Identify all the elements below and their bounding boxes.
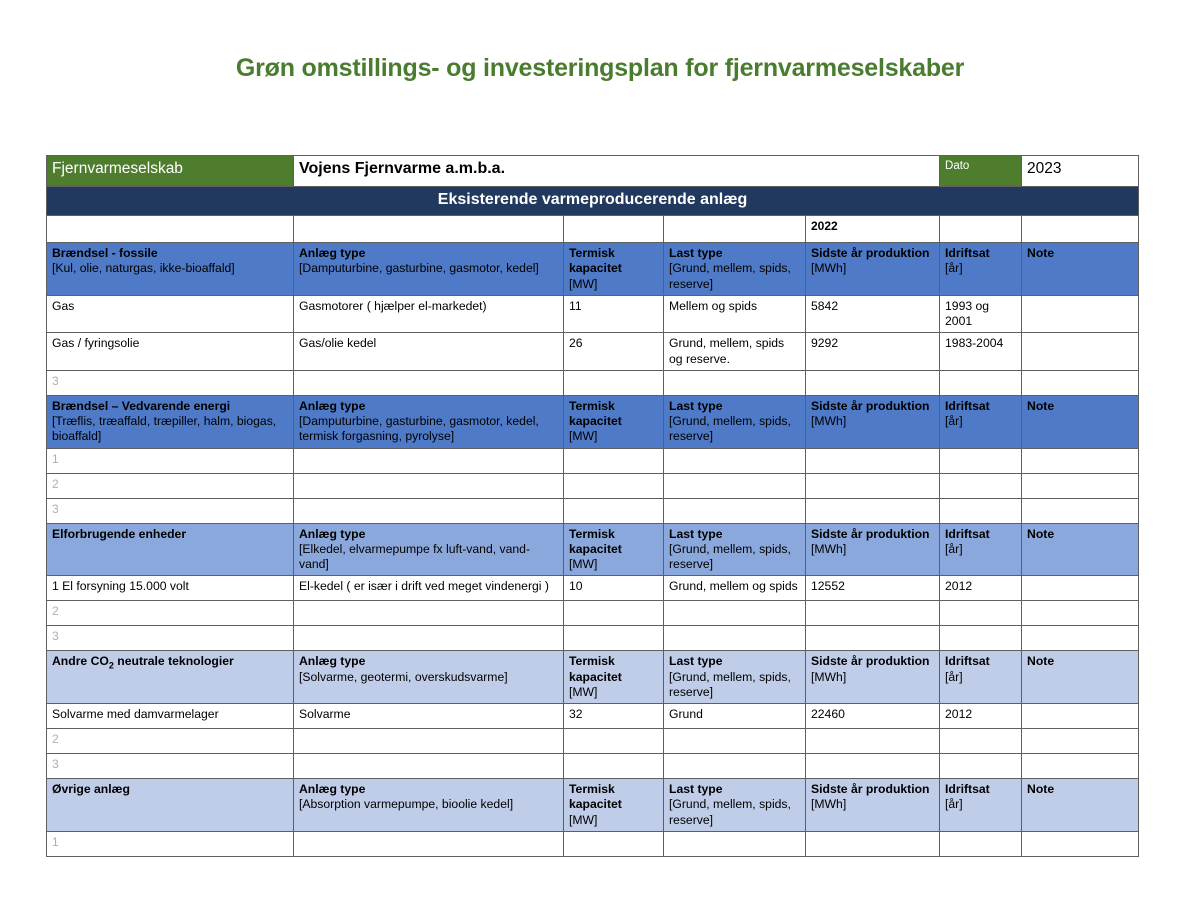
section-header-vedvarende: Brændsel – Vedvarende energi[Træflis, tr…	[47, 395, 1139, 448]
section-title-cell-elforbrugende: Elforbrugende enheder	[47, 523, 294, 576]
col-header-sub: [Solvarme, geotermi, overskudsvarme]	[299, 670, 558, 685]
cell-anlaeg-type[interactable]: Gas/olie kedel	[294, 333, 564, 371]
cell-note[interactable]	[1022, 754, 1139, 779]
cell-termisk-kapacitet[interactable]	[564, 448, 664, 473]
cell-idriftsat[interactable]	[940, 626, 1022, 651]
col-header-unit: [MWh]	[811, 542, 846, 556]
col-header-sub: [Grund, mellem, spids, reserve]	[669, 797, 800, 828]
col-header-label: Sidste år produktion [MWh]	[811, 399, 934, 430]
cell-idriftsat[interactable]	[940, 754, 1022, 779]
table-row[interactable]: 1	[47, 831, 1139, 856]
section-title-cell-co2neutrale: Andre CO2 neutrale teknologier	[47, 651, 294, 704]
row-number: 3	[52, 374, 59, 388]
section-title: Øvrige anlæg	[52, 782, 288, 797]
cell-fuel-name[interactable]: 3	[47, 754, 294, 779]
col-last-type-elforbrugende: Last type[Grund, mellem, spids, reserve]	[664, 523, 806, 576]
col-last-type-fossile: Last type[Grund, mellem, spids, reserve]	[664, 243, 806, 296]
cell-fuel-name[interactable]: 2	[47, 601, 294, 626]
company-name-value[interactable]: Vojens Fjernvarme a.m.b.a.	[294, 156, 940, 187]
cell-anlaeg-type[interactable]: El-kedel ( er især i drift ved meget vin…	[294, 576, 564, 601]
cell-note[interactable]	[1022, 473, 1139, 498]
cell-note[interactable]	[1022, 831, 1139, 856]
col-termisk-kapacitet-vedvarende: Termisk kapacitet[MW]	[564, 395, 664, 448]
cell-fuel: 1 El forsyning 15.000 volt	[52, 579, 189, 593]
year-marker: 2022	[806, 216, 940, 243]
cell-last-type[interactable]	[664, 831, 806, 856]
cell-idriftsat[interactable]	[940, 370, 1022, 395]
cell-sidste-aar-produktion[interactable]	[806, 831, 940, 856]
section-title: Andre CO2 neutrale teknologier	[52, 654, 288, 672]
col-note-vedvarende: Note	[1022, 395, 1139, 448]
cell-anlaeg-type[interactable]	[294, 601, 564, 626]
col-header-unit: [MWh]	[811, 670, 846, 684]
col-header-label: Last type	[669, 782, 800, 797]
col-idriftsat-co2neutrale: Idriftsat[år]	[940, 651, 1022, 704]
cell-note[interactable]	[1022, 448, 1139, 473]
cell-sidste-aar-produktion[interactable]: 12552	[806, 576, 940, 601]
col-note-fossile: Note	[1022, 243, 1139, 296]
cell-termisk-kapacitet[interactable]: 11	[564, 295, 664, 333]
spacer-cell-4	[664, 216, 806, 243]
col-header-label: Termisk kapacitet	[569, 399, 658, 430]
table-row[interactable]: 3	[47, 498, 1139, 523]
cell-last-type[interactable]	[664, 370, 806, 395]
cell-sidste-aar-produktion[interactable]	[806, 626, 940, 651]
col-idriftsat-fossile: Idriftsat[år]	[940, 243, 1022, 296]
col-last-type-ovrige: Last type[Grund, mellem, spids, reserve]	[664, 779, 806, 832]
cell-fuel-name[interactable]: 3	[47, 498, 294, 523]
col-header-unit: [år]	[945, 261, 1016, 276]
section-header-elforbrugende: Elforbrugende enhederAnlæg type[Elkedel,…	[47, 523, 1139, 576]
col-header-label: Sidste år produktion [MWh]	[811, 246, 934, 277]
cell-anlaeg-type[interactable]	[294, 729, 564, 754]
cell-fuel-name[interactable]: 1	[47, 831, 294, 856]
section-title: Brændsel - fossile	[52, 246, 288, 261]
row-number: 2	[52, 732, 59, 746]
col-header-unit: [MW]	[569, 277, 658, 292]
col-header-label: Idriftsat	[945, 782, 1016, 797]
row-number: 1	[52, 835, 59, 849]
cell-last-type[interactable]: Grund	[664, 704, 806, 729]
identity-row: Fjernvarmeselskab Vojens Fjernvarme a.m.…	[47, 156, 1139, 187]
cell-fuel-name[interactable]: 2	[47, 729, 294, 754]
col-header-label: Note	[1027, 654, 1133, 669]
cell-termisk-kapacitet[interactable]: 26	[564, 333, 664, 371]
cell-termisk-kapacitet[interactable]: 32	[564, 704, 664, 729]
col-header-label: Termisk kapacitet	[569, 782, 658, 813]
cell-anlaeg-type[interactable]	[294, 754, 564, 779]
cell-sidste-aar-produktion[interactable]	[806, 729, 940, 754]
col-note-co2neutrale: Note	[1022, 651, 1139, 704]
col-idriftsat-vedvarende: Idriftsat[år]	[940, 395, 1022, 448]
col-idriftsat-ovrige: Idriftsat[år]	[940, 779, 1022, 832]
spacer-cell-2	[294, 216, 564, 243]
section-title-cell-ovrige: Øvrige anlæg	[47, 779, 294, 832]
row-number: 3	[52, 629, 59, 643]
col-header-label: Last type	[669, 399, 800, 414]
table-body: Fjernvarmeselskab Vojens Fjernvarme a.m.…	[47, 156, 1139, 857]
cell-termisk-kapacitet[interactable]	[564, 729, 664, 754]
cell-idriftsat[interactable]	[940, 448, 1022, 473]
banner-row: Eksisterende varmeproducerende anlæg	[47, 187, 1139, 216]
table-row[interactable]: 2	[47, 601, 1139, 626]
row-number: 1	[52, 452, 59, 466]
cell-last-type[interactable]: Grund, mellem og spids	[664, 576, 806, 601]
cell-idriftsat[interactable]: 2012	[940, 704, 1022, 729]
cell-idriftsat[interactable]	[940, 831, 1022, 856]
date-label: Dato	[940, 156, 1022, 187]
spacer-cell-6	[940, 216, 1022, 243]
cell-sidste-aar-produktion[interactable]	[806, 754, 940, 779]
year-marker-row: 2022	[47, 216, 1139, 243]
col-anlaeg-type-fossile: Anlæg type[Damputurbine, gasturbine, gas…	[294, 243, 564, 296]
col-termisk-kapacitet-fossile: Termisk kapacitet[MW]	[564, 243, 664, 296]
spacer-cell-3	[564, 216, 664, 243]
col-header-sub: [Elkedel, elvarmepumpe fx luft-vand, van…	[299, 542, 558, 573]
col-header-unit: [MW]	[569, 557, 658, 572]
table-row[interactable]: Solvarme med damvarmelagerSolvarme32Grun…	[47, 704, 1139, 729]
col-termisk-kapacitet-co2neutrale: Termisk kapacitet[MW]	[564, 651, 664, 704]
section-subtitle: [Træflis, træaffald, træpiller, halm, bi…	[52, 414, 288, 445]
col-header-label: Note	[1027, 246, 1133, 261]
col-last-type-co2neutrale: Last type[Grund, mellem, spids, reserve]	[664, 651, 806, 704]
col-header-label: Note	[1027, 782, 1133, 797]
cell-termisk-kapacitet[interactable]: 10	[564, 576, 664, 601]
cell-anlaeg-type[interactable]: Solvarme	[294, 704, 564, 729]
cell-note[interactable]	[1022, 626, 1139, 651]
cell-last-type[interactable]	[664, 473, 806, 498]
col-anlaeg-type-co2neutrale: Anlæg type[Solvarme, geotermi, overskuds…	[294, 651, 564, 704]
col-header-label: Termisk kapacitet	[569, 246, 658, 277]
col-header-sub: [Grund, mellem, spids, reserve]	[669, 670, 800, 701]
cell-last-type[interactable]: Grund, mellem, spids og reserve.	[664, 333, 806, 371]
col-header-unit: [MWh]	[811, 414, 846, 428]
cell-sidste-aar-produktion[interactable]: 22460	[806, 704, 940, 729]
cell-note[interactable]	[1022, 601, 1139, 626]
col-note-elforbrugende: Note	[1022, 523, 1139, 576]
col-note-ovrige: Note	[1022, 779, 1139, 832]
cell-sidste-aar-produktion[interactable]	[806, 370, 940, 395]
col-header-label: Note	[1027, 527, 1133, 542]
cell-anlaeg-type[interactable]	[294, 448, 564, 473]
cell-note[interactable]	[1022, 729, 1139, 754]
col-header-label: Idriftsat	[945, 246, 1016, 261]
col-header-label: Last type	[669, 654, 800, 669]
col-header-label: Termisk kapacitet	[569, 654, 658, 685]
col-header-unit: [MW]	[569, 685, 658, 700]
spacer-cell-7	[1022, 216, 1139, 243]
col-header-unit: [år]	[945, 797, 1016, 812]
col-header-label: Anlæg type	[299, 399, 558, 414]
cell-sidste-aar-produktion[interactable]	[806, 601, 940, 626]
col-sidste-aar-elforbrugende: Sidste år produktion [MWh]	[806, 523, 940, 576]
section-title: Elforbrugende enheder	[52, 527, 288, 542]
cell-termisk-kapacitet[interactable]	[564, 754, 664, 779]
cell-last-type[interactable]	[664, 626, 806, 651]
cell-last-type[interactable]	[664, 754, 806, 779]
cell-last-type[interactable]: Mellem og spids	[664, 295, 806, 333]
cell-note[interactable]	[1022, 576, 1139, 601]
table-row[interactable]: GasGasmotorer ( hjælper el-markedet)11Me…	[47, 295, 1139, 333]
table-row[interactable]: 3	[47, 626, 1139, 651]
col-sidste-aar-co2neutrale: Sidste år produktion [MWh]	[806, 651, 940, 704]
col-header-label: Anlæg type	[299, 246, 558, 261]
cell-fuel-name[interactable]: 2	[47, 473, 294, 498]
cell-fuel-name[interactable]: Gas	[47, 295, 294, 333]
col-header-label: Anlæg type	[299, 782, 558, 797]
section-title-cell-vedvarende: Brændsel – Vedvarende energi[Træflis, tr…	[47, 395, 294, 448]
col-sidste-aar-fossile: Sidste år produktion [MWh]	[806, 243, 940, 296]
col-header-label: Last type	[669, 527, 800, 542]
cell-note[interactable]	[1022, 498, 1139, 523]
table-row[interactable]: Gas / fyringsolieGas/olie kedel26Grund, …	[47, 333, 1139, 371]
cell-idriftsat[interactable]	[940, 473, 1022, 498]
cell-idriftsat[interactable]: 1983-2004	[940, 333, 1022, 371]
col-header-unit: [MW]	[569, 813, 658, 828]
cell-anlaeg-type[interactable]	[294, 370, 564, 395]
cell-idriftsat[interactable]: 1993 og 2001	[940, 295, 1022, 333]
cell-sidste-aar-produktion[interactable]	[806, 448, 940, 473]
cell-idriftsat[interactable]	[940, 729, 1022, 754]
cell-anlaeg-type[interactable]	[294, 473, 564, 498]
col-header-unit: [MW]	[569, 429, 658, 444]
cell-termisk-kapacitet[interactable]	[564, 370, 664, 395]
table-row[interactable]: 2	[47, 729, 1139, 754]
col-sidste-aar-ovrige: Sidste år produktion [MWh]	[806, 779, 940, 832]
section-header-co2neutrale: Andre CO2 neutrale teknologierAnlæg type…	[47, 651, 1139, 704]
col-header-sub: [Grund, mellem, spids, reserve]	[669, 542, 800, 573]
cell-anlaeg-type[interactable]	[294, 498, 564, 523]
col-header-sub: [Grund, mellem, spids, reserve]	[669, 414, 800, 445]
cell-fuel-name[interactable]: Gas / fyringsolie	[47, 333, 294, 371]
col-header-label: Last type	[669, 246, 800, 261]
section-header-ovrige: Øvrige anlægAnlæg type[Absorption varmep…	[47, 779, 1139, 832]
cell-anlaeg-type[interactable]: Gasmotorer ( hjælper el-markedet)	[294, 295, 564, 333]
cell-anlaeg-type[interactable]	[294, 831, 564, 856]
section-title-cell-fossile: Brændsel - fossile[Kul, olie, naturgas, …	[47, 243, 294, 296]
section-header-fossile: Brændsel - fossile[Kul, olie, naturgas, …	[47, 243, 1139, 296]
col-header-unit: [år]	[945, 670, 1016, 685]
table-row[interactable]: 2	[47, 473, 1139, 498]
cell-fuel: Solvarme med damvarmelager	[52, 707, 219, 721]
col-header-sub: [Absorption varmepumpe, bioolie kedel]	[299, 797, 558, 812]
table-row[interactable]: 1 El forsyning 15.000 voltEl-kedel ( er …	[47, 576, 1139, 601]
col-header-label: Anlæg type	[299, 527, 558, 542]
col-header-label: Note	[1027, 399, 1133, 414]
col-header-label: Sidste år produktion [MWh]	[811, 654, 934, 685]
section-banner: Eksisterende varmeproducerende anlæg	[47, 187, 1139, 216]
cell-idriftsat[interactable]	[940, 601, 1022, 626]
col-header-label: Sidste år produktion [MWh]	[811, 782, 934, 813]
cell-idriftsat[interactable]	[940, 498, 1022, 523]
cell-termisk-kapacitet[interactable]	[564, 498, 664, 523]
date-value[interactable]: 2023	[1022, 156, 1139, 187]
col-header-sub: [Grund, mellem, spids, reserve]	[669, 261, 800, 292]
cell-fuel-name[interactable]: 3	[47, 626, 294, 651]
col-header-unit: [år]	[945, 542, 1016, 557]
cell-fuel-name[interactable]: Solvarme med damvarmelager	[47, 704, 294, 729]
cell-sidste-aar-produktion[interactable]	[806, 473, 940, 498]
col-header-unit: [MWh]	[811, 261, 846, 275]
cell-note[interactable]	[1022, 295, 1139, 333]
col-header-label: Anlæg type	[299, 654, 558, 669]
col-anlaeg-type-vedvarende: Anlæg type[Damputurbine, gasturbine, gas…	[294, 395, 564, 448]
cell-sidste-aar-produktion[interactable]: 9292	[806, 333, 940, 371]
cell-fuel-name[interactable]: 3	[47, 370, 294, 395]
cell-anlaeg-type[interactable]	[294, 626, 564, 651]
cell-idriftsat[interactable]: 2012	[940, 576, 1022, 601]
col-header-label: Idriftsat	[945, 527, 1016, 542]
cell-last-type[interactable]	[664, 601, 806, 626]
col-header-sub: [Damputurbine, gasturbine, gasmotor, ked…	[299, 414, 558, 445]
company-label: Fjernvarmeselskab	[47, 156, 294, 187]
col-header-unit: [år]	[945, 414, 1016, 429]
cell-fuel-name[interactable]: 1 El forsyning 15.000 volt	[47, 576, 294, 601]
table-row[interactable]: 3	[47, 370, 1139, 395]
spacer-cell-1	[47, 216, 294, 243]
row-number: 2	[52, 604, 59, 618]
col-anlaeg-type-elforbrugende: Anlæg type[Elkedel, elvarmepumpe fx luft…	[294, 523, 564, 576]
col-header-label: Sidste år produktion [MWh]	[811, 527, 934, 558]
cell-note[interactable]	[1022, 370, 1139, 395]
col-header-sub: [Damputurbine, gasturbine, gasmotor, ked…	[299, 261, 558, 276]
cell-last-type[interactable]	[664, 498, 806, 523]
col-anlaeg-type-ovrige: Anlæg type[Absorption varmepumpe, biooli…	[294, 779, 564, 832]
row-number: 3	[52, 502, 59, 516]
heat-plant-table: Fjernvarmeselskab Vojens Fjernvarme a.m.…	[46, 155, 1139, 857]
cell-last-type[interactable]	[664, 448, 806, 473]
cell-sidste-aar-produktion[interactable]	[806, 498, 940, 523]
slide-page: Grøn omstillings- og investeringsplan fo…	[0, 0, 1200, 900]
col-termisk-kapacitet-elforbrugende: Termisk kapacitet[MW]	[564, 523, 664, 576]
table-row[interactable]: 1	[47, 448, 1139, 473]
section-title: Brændsel – Vedvarende energi	[52, 399, 288, 414]
cell-fuel-name[interactable]: 1	[47, 448, 294, 473]
col-termisk-kapacitet-ovrige: Termisk kapacitet[MW]	[564, 779, 664, 832]
cell-note[interactable]	[1022, 704, 1139, 729]
row-number: 2	[52, 477, 59, 491]
col-idriftsat-elforbrugende: Idriftsat[år]	[940, 523, 1022, 576]
cell-fuel: Gas / fyringsolie	[52, 336, 139, 350]
cell-last-type[interactable]	[664, 729, 806, 754]
col-header-label: Idriftsat	[945, 399, 1016, 414]
cell-termisk-kapacitet[interactable]	[564, 601, 664, 626]
table-row[interactable]: 3	[47, 754, 1139, 779]
col-header-label: Idriftsat	[945, 654, 1016, 669]
col-header-unit: [MWh]	[811, 797, 846, 811]
cell-termisk-kapacitet[interactable]	[564, 626, 664, 651]
cell-note[interactable]	[1022, 333, 1139, 371]
cell-termisk-kapacitet[interactable]	[564, 473, 664, 498]
cell-termisk-kapacitet[interactable]	[564, 831, 664, 856]
row-number: 3	[52, 757, 59, 771]
page-title: Grøn omstillings- og investeringsplan fo…	[0, 54, 1200, 83]
cell-sidste-aar-produktion[interactable]: 5842	[806, 295, 940, 333]
col-last-type-vedvarende: Last type[Grund, mellem, spids, reserve]	[664, 395, 806, 448]
cell-fuel: Gas	[52, 299, 74, 313]
col-header-label: Termisk kapacitet	[569, 527, 658, 558]
col-sidste-aar-vedvarende: Sidste år produktion [MWh]	[806, 395, 940, 448]
section-subtitle: [Kul, olie, naturgas, ikke-bioaffald]	[52, 261, 288, 276]
